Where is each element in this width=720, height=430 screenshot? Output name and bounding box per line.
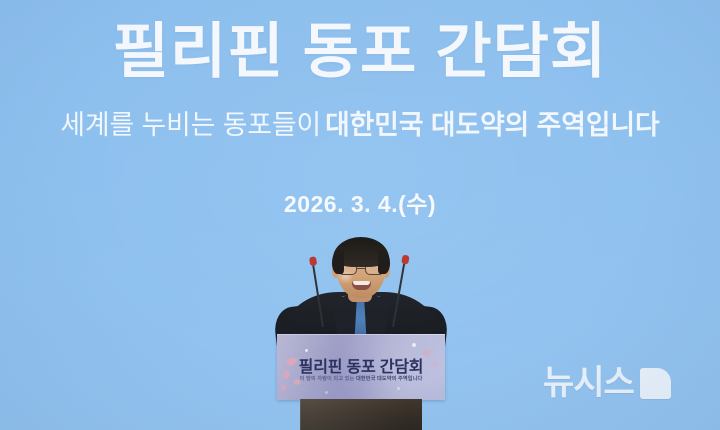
backdrop-subtitle-bold: 대한민국 대도약의 주역입니다 <box>325 110 660 140</box>
podium-sign-subtitle-left: 이 땅의 자랑이 되고 있는 <box>300 376 355 382</box>
speaker-glasses-bridge <box>357 268 365 269</box>
speaker-hair-side-right <box>378 250 390 274</box>
flower-petal-icon <box>281 385 287 391</box>
sparkle-icon <box>325 391 328 394</box>
backdrop-subtitle: 세계를 누비는 동포들이대한민국 대도약의 주역입니다 <box>4 108 717 142</box>
flower-petal-icon <box>293 378 301 386</box>
photograph: 필리핀 동포 간담회 세계를 누비는 동포들이대한민국 대도약의 주역입니다 2… <box>0 0 720 430</box>
flower-petal-icon <box>282 370 292 380</box>
microphone-head-left <box>308 256 316 266</box>
speaker-hair-side-left <box>332 250 344 274</box>
podium-sign-subtitle-right: 대한민국 대도약의 주역입니다 <box>356 376 422 382</box>
podium-sign-subtitle: 이 땅의 자랑이 되고 있는 대한민국 대도약의 주역입니다 <box>277 375 445 382</box>
podium-base <box>300 399 422 430</box>
watermark-text: 뉴시스 <box>543 366 634 400</box>
watermark: 뉴시스 <box>543 366 671 400</box>
speaker-teeth <box>353 281 370 285</box>
podium-base-shading <box>300 399 422 430</box>
newsis-logo-mark-icon <box>640 368 671 399</box>
speaker <box>276 236 446 366</box>
backdrop-subtitle-light: 세계를 누비는 동포들이 <box>60 110 321 140</box>
backdrop-date: 2026. 3. 4.(수) <box>0 185 720 219</box>
sparkle-icon <box>397 387 400 390</box>
backdrop-title: 필리핀 동포 간담회 <box>0 14 720 90</box>
